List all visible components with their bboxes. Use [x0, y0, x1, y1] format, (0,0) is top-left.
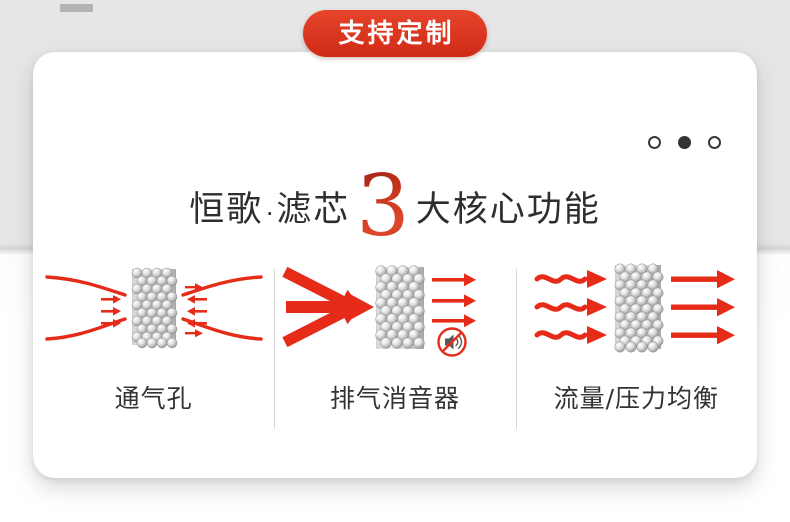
page-title: 恒歌·滤芯3大核心功能 [33, 160, 757, 232]
feature-item-flow-balance[interactable]: 流量/压力均衡 [516, 257, 757, 442]
feature-label-vent-hole: 通气孔 [115, 379, 193, 415]
carousel-dot-1[interactable] [648, 136, 661, 149]
mute-speaker-icon [438, 329, 465, 356]
carousel-dot-2[interactable] [678, 136, 691, 149]
feature-item-exhaust-silencer[interactable]: 排气消音器 [274, 257, 515, 442]
badge-label: 支持定制 [335, 21, 454, 47]
carousel-dots[interactable] [648, 136, 721, 149]
feature-card: 恒歌·滤芯3大核心功能 [33, 52, 757, 478]
carousel-dot-3[interactable] [708, 136, 721, 149]
title-suffix: 大核心功能 [416, 190, 601, 230]
feature-label-exhaust-silencer: 排气消音器 [330, 379, 460, 415]
title-product: 滤芯 [276, 190, 350, 230]
support-customization-badge[interactable]: 支持定制 [303, 10, 487, 57]
title-number: 3 [350, 157, 415, 255]
title-separator: · [263, 197, 276, 227]
feature-item-vent-hole[interactable]: 通气孔 [33, 257, 274, 442]
porous-filter-silencer-icon [280, 257, 510, 357]
title-brand: 恒歌 [189, 190, 263, 230]
feature-label-flow-balance: 流量/压力均衡 [554, 379, 719, 415]
slide-canvas: 支持定制 恒歌·滤芯3大核心功能 [0, 0, 790, 522]
top-drag-handle[interactable] [60, 4, 93, 12]
feature-list: 通气孔 [33, 257, 757, 442]
porous-filter-flow-balance-icon [521, 257, 751, 357]
porous-filter-curved-flow-icon [39, 257, 269, 357]
